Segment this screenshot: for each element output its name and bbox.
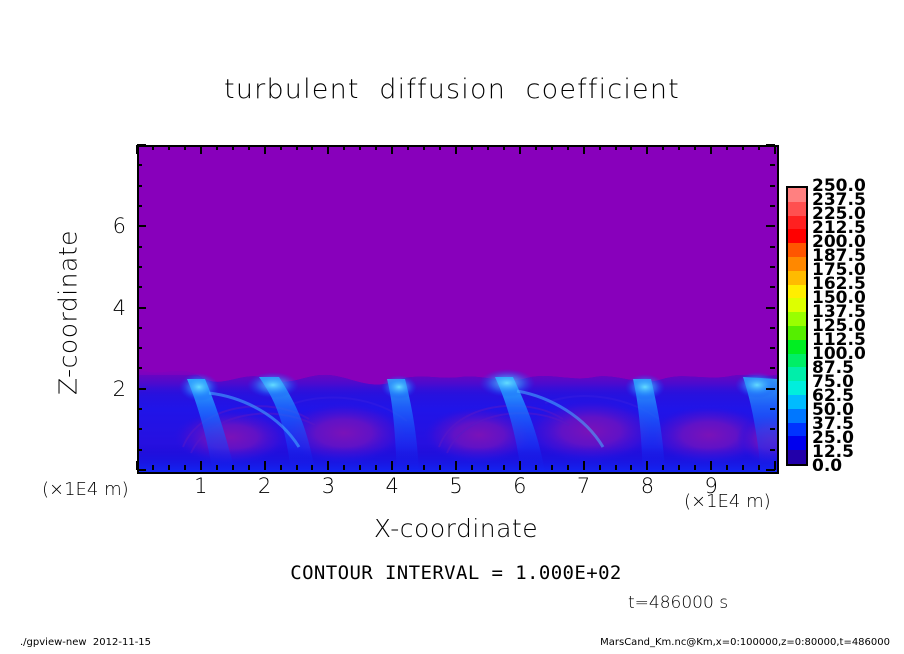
y-tick-label: 4 bbox=[96, 296, 126, 320]
colorbar-band bbox=[788, 450, 806, 464]
x-tick-mark bbox=[710, 145, 712, 154]
colorbar-band bbox=[788, 202, 806, 216]
colorbar-band bbox=[788, 216, 806, 230]
y-tick-mark bbox=[137, 408, 142, 410]
z-axis-unit-label: (×1E4 m) bbox=[42, 479, 129, 500]
colorbar-tick-labels: 250.0237.5225.0212.5200.0187.5175.0162.5… bbox=[812, 180, 898, 476]
footer-dataset-label: MarsCand_Km.nc@Km,x=0:100000,z=0:80000,t… bbox=[600, 637, 890, 648]
colorbar-band bbox=[788, 354, 806, 368]
x-tick-mark bbox=[471, 145, 473, 150]
y-tick-mark bbox=[137, 286, 142, 288]
y-tick-mark bbox=[137, 225, 146, 227]
x-tick-label: 6 bbox=[500, 474, 540, 498]
y-tick-mark bbox=[770, 286, 775, 288]
x-tick-mark bbox=[646, 461, 648, 470]
x-tick-mark bbox=[742, 145, 744, 150]
x-tick-mark bbox=[200, 461, 202, 470]
x-tick-mark bbox=[184, 465, 186, 470]
contour-plot-area bbox=[137, 145, 779, 474]
y-tick-label: 6 bbox=[96, 214, 126, 238]
x-tick-mark bbox=[758, 145, 760, 150]
y-tick-mark bbox=[137, 185, 142, 187]
y-tick-mark bbox=[137, 327, 142, 329]
x-tick-mark bbox=[343, 465, 345, 470]
x-tick-label: 1 bbox=[181, 474, 221, 498]
x-tick-mark bbox=[216, 145, 218, 150]
x-tick-mark bbox=[742, 465, 744, 470]
y-tick-mark bbox=[766, 307, 775, 309]
y-tick-mark bbox=[137, 428, 142, 430]
x-tick-mark bbox=[519, 145, 521, 154]
y-tick-mark bbox=[766, 225, 775, 227]
x-tick-mark bbox=[551, 145, 553, 150]
x-tick-mark bbox=[487, 465, 489, 470]
x-tick-mark bbox=[503, 145, 505, 150]
colorbar-band bbox=[788, 381, 806, 395]
x-tick-mark bbox=[630, 465, 632, 470]
x-tick-mark bbox=[280, 465, 282, 470]
x-tick-mark bbox=[567, 465, 569, 470]
footer-command-label: ./gpview-new 2012-11-15 bbox=[20, 637, 151, 648]
y-tick-mark bbox=[137, 246, 142, 248]
x-tick-mark bbox=[694, 145, 696, 150]
x-axis-unit-label: (×1E4 m) bbox=[684, 491, 771, 512]
colorbar-band bbox=[788, 285, 806, 299]
colorbar-band bbox=[788, 326, 806, 340]
x-tick-mark bbox=[583, 145, 585, 154]
contour-field bbox=[139, 147, 777, 472]
x-tick-mark bbox=[232, 465, 234, 470]
x-tick-label: 3 bbox=[308, 474, 348, 498]
x-tick-mark bbox=[726, 465, 728, 470]
x-tick-mark bbox=[423, 145, 425, 150]
x-tick-mark bbox=[471, 465, 473, 470]
x-tick-mark bbox=[551, 465, 553, 470]
x-tick-label: 4 bbox=[372, 474, 412, 498]
x-tick-mark bbox=[232, 145, 234, 150]
y-tick-mark bbox=[770, 266, 775, 268]
page-title: turbulent diffusion coefficient bbox=[0, 74, 904, 105]
x-tick-mark bbox=[391, 461, 393, 470]
y-tick-mark bbox=[137, 164, 142, 166]
x-tick-mark bbox=[439, 465, 441, 470]
x-tick-mark bbox=[280, 145, 282, 150]
x-tick-mark bbox=[583, 461, 585, 470]
y-tick-mark bbox=[137, 307, 146, 309]
colorbar-band bbox=[788, 312, 806, 326]
y-tick-mark bbox=[766, 388, 775, 390]
x-tick-mark bbox=[200, 145, 202, 154]
contour-interval-label: CONTOUR INTERVAL = 1.000E+02 bbox=[137, 562, 775, 584]
y-tick-mark bbox=[770, 428, 775, 430]
x-tick-label: 2 bbox=[245, 474, 285, 498]
x-tick-mark bbox=[694, 465, 696, 470]
colorbar-band bbox=[788, 271, 806, 285]
x-tick-mark bbox=[168, 145, 170, 150]
colorbar-band bbox=[788, 229, 806, 243]
x-tick-mark bbox=[311, 465, 313, 470]
x-tick-label: 7 bbox=[564, 474, 604, 498]
x-tick-mark bbox=[726, 145, 728, 150]
x-tick-mark bbox=[630, 145, 632, 150]
y-tick-mark bbox=[770, 246, 775, 248]
x-tick-mark bbox=[248, 465, 250, 470]
y-tick-mark bbox=[137, 347, 142, 349]
x-tick-mark bbox=[615, 465, 617, 470]
x-tick-mark bbox=[359, 145, 361, 150]
y-tick-mark bbox=[137, 469, 146, 471]
x-tick-mark bbox=[455, 145, 457, 154]
colorbar-band bbox=[788, 243, 806, 257]
x-tick-mark bbox=[216, 465, 218, 470]
x-tick-mark bbox=[535, 145, 537, 150]
x-tick-mark bbox=[662, 145, 664, 150]
x-tick-mark bbox=[264, 145, 266, 154]
x-tick-mark bbox=[567, 145, 569, 150]
colorbar-band bbox=[788, 409, 806, 423]
x-tick-mark bbox=[487, 145, 489, 150]
x-tick-mark bbox=[311, 145, 313, 150]
y-axis-label: Z-coordinate bbox=[54, 193, 83, 433]
x-tick-mark bbox=[343, 145, 345, 150]
colorbar-band bbox=[788, 257, 806, 271]
x-tick-mark bbox=[407, 465, 409, 470]
y-tick-mark bbox=[766, 144, 775, 146]
x-tick-mark bbox=[423, 465, 425, 470]
x-tick-mark bbox=[327, 145, 329, 154]
x-tick-mark bbox=[168, 465, 170, 470]
y-tick-mark bbox=[137, 266, 142, 268]
colorbar-level-label: 0.0 bbox=[812, 458, 842, 475]
y-tick-mark bbox=[137, 388, 146, 390]
x-tick-mark bbox=[327, 461, 329, 470]
y-tick-mark bbox=[770, 367, 775, 369]
y-tick-mark bbox=[770, 205, 775, 207]
x-tick-mark bbox=[264, 461, 266, 470]
x-tick-label: 5 bbox=[436, 474, 476, 498]
y-tick-mark bbox=[770, 327, 775, 329]
y-tick-mark bbox=[770, 185, 775, 187]
y-tick-mark bbox=[766, 469, 775, 471]
y-tick-mark bbox=[770, 449, 775, 451]
colorbar-band bbox=[788, 436, 806, 450]
y-tick-mark bbox=[137, 144, 146, 146]
x-tick-mark bbox=[152, 145, 154, 150]
y-tick-label: 2 bbox=[96, 377, 126, 401]
x-axis-label: X-coordinate bbox=[137, 514, 775, 543]
y-tick-mark bbox=[770, 347, 775, 349]
x-tick-mark bbox=[646, 145, 648, 154]
x-tick-mark bbox=[678, 145, 680, 150]
time-stamp-label: t=486000 s bbox=[628, 593, 728, 613]
colorbar-band bbox=[788, 188, 806, 202]
colorbar-band bbox=[788, 423, 806, 437]
x-tick-mark bbox=[519, 461, 521, 470]
x-tick-mark bbox=[136, 145, 138, 154]
x-tick-label: 8 bbox=[627, 474, 667, 498]
x-tick-mark bbox=[296, 465, 298, 470]
y-tick-mark bbox=[770, 408, 775, 410]
x-tick-mark bbox=[391, 145, 393, 154]
colorbar-band bbox=[788, 367, 806, 381]
x-tick-mark bbox=[503, 465, 505, 470]
x-tick-mark bbox=[375, 145, 377, 150]
x-tick-mark bbox=[375, 465, 377, 470]
x-tick-mark bbox=[184, 145, 186, 150]
x-tick-mark bbox=[407, 145, 409, 150]
x-tick-mark bbox=[678, 465, 680, 470]
y-tick-mark bbox=[137, 449, 142, 451]
colorbar-band bbox=[788, 395, 806, 409]
colorbar-band bbox=[788, 298, 806, 312]
x-tick-mark bbox=[662, 465, 664, 470]
x-tick-mark bbox=[599, 465, 601, 470]
y-tick-mark bbox=[137, 367, 142, 369]
x-tick-mark bbox=[359, 465, 361, 470]
x-tick-mark bbox=[774, 145, 776, 154]
x-tick-mark bbox=[152, 465, 154, 470]
x-tick-mark bbox=[296, 145, 298, 150]
x-tick-mark bbox=[710, 461, 712, 470]
y-tick-mark bbox=[770, 164, 775, 166]
x-tick-mark bbox=[439, 145, 441, 150]
x-tick-mark bbox=[758, 465, 760, 470]
x-tick-mark bbox=[455, 461, 457, 470]
x-tick-mark bbox=[535, 465, 537, 470]
x-tick-mark bbox=[248, 145, 250, 150]
colorbar-band bbox=[788, 340, 806, 354]
colorbar bbox=[786, 186, 808, 466]
y-tick-mark bbox=[137, 205, 142, 207]
x-tick-mark bbox=[599, 145, 601, 150]
x-tick-mark bbox=[615, 145, 617, 150]
